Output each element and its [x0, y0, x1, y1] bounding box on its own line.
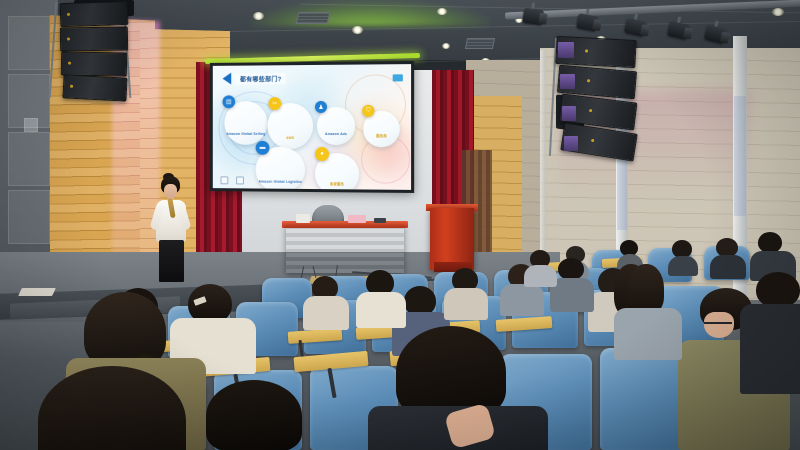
slide-prev-button[interactable]	[221, 176, 229, 184]
bubble-label: Amazon Global Logistics	[259, 180, 302, 184]
wall-panel	[8, 190, 50, 244]
downlight	[772, 8, 784, 16]
downlight	[352, 26, 363, 34]
desk-item-paper	[296, 214, 310, 223]
eyeglasses-icon	[704, 322, 732, 324]
downlight	[253, 12, 264, 20]
bubble-label: 卖家服务	[330, 181, 344, 186]
line-array-speaker-right	[556, 38, 636, 158]
pillar-tint	[734, 96, 746, 216]
shield-icon: ⛉	[362, 105, 374, 117]
projection-screen-frame: 都有哪些部门? Amazon Global Selling ▤ AWS ✂ Am…	[210, 61, 414, 193]
hvac-vent	[296, 12, 331, 24]
bubble-label: AWS	[286, 136, 294, 140]
slide-title: 都有哪些部门?	[235, 73, 287, 84]
wall-panel	[8, 132, 50, 186]
truck-icon: ▬	[256, 141, 270, 155]
wall-plate	[24, 118, 38, 132]
face	[704, 312, 734, 338]
blue-tag-icon	[393, 74, 403, 81]
slide-title-row: 都有哪些部门?	[222, 72, 286, 84]
presenter	[148, 176, 194, 292]
wall-panel	[8, 16, 50, 70]
bubble-label: 服务商	[376, 133, 387, 138]
bubble-label: Amazon Ads	[325, 132, 347, 136]
stage-light	[521, 2, 547, 35]
bubble-label: Amazon Global Selling	[226, 132, 265, 136]
auditorium-photo: 都有哪些部门? Amazon Global Selling ▤ AWS ✂ Am…	[0, 0, 800, 450]
projection-screen: 都有哪些部门? Amazon Global Selling ▤ AWS ✂ Am…	[213, 64, 411, 190]
calendar-icon: ▤	[222, 95, 235, 108]
downlight	[442, 43, 450, 49]
hvac-vent	[465, 38, 495, 49]
presenter-skirt	[159, 240, 184, 282]
stage-paper	[18, 288, 56, 296]
desk-item-device	[374, 218, 386, 223]
desk-item-box	[348, 215, 366, 223]
downlight	[437, 8, 447, 15]
megaphone-icon: ♟	[315, 101, 327, 113]
line-array-speaker-left	[58, 2, 128, 102]
back-chevron-icon	[222, 73, 231, 85]
user-icon: ●	[315, 147, 329, 161]
slide-next-button[interactable]	[236, 176, 244, 184]
tools-icon: ✂	[268, 97, 281, 110]
podium	[430, 208, 474, 270]
